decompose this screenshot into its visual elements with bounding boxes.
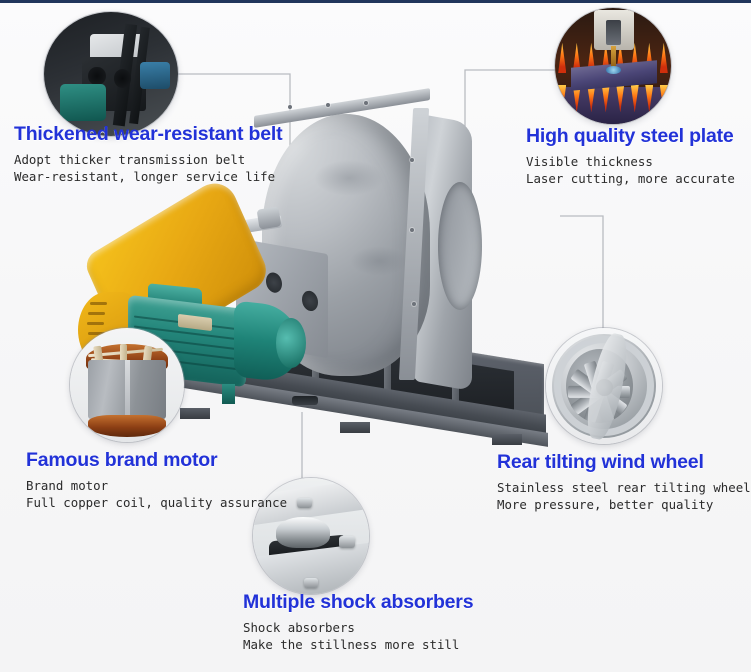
belt-photo-content — [44, 12, 178, 136]
stator-core-keyway — [125, 360, 131, 419]
belt-drive-motor — [60, 84, 106, 121]
flange-bolt — [410, 158, 414, 162]
shock-absorber-mount-on-frame — [292, 396, 318, 405]
flange-bolt — [326, 103, 330, 107]
mount-bolt — [304, 578, 318, 588]
stator-photo-content — [70, 328, 184, 442]
feature-line: Laser cutting, more accurate — [526, 171, 735, 187]
pedestal-access-hole — [302, 290, 318, 313]
flange-bolt — [364, 101, 368, 105]
base-frame-foot — [180, 408, 210, 419]
laser-head-window — [606, 20, 621, 46]
motor-stator-copper-winding-photo — [70, 328, 184, 442]
laser-photo-content — [555, 8, 671, 124]
feature-line: Wear-resistant, longer service life — [14, 169, 282, 185]
feature-title: Famous brand motor — [26, 450, 287, 471]
guard-vent-slot — [88, 312, 105, 315]
pedestal-access-hole — [266, 271, 282, 294]
feature-line: Full copper coil, quality assurance — [26, 495, 287, 511]
flange-bolt — [410, 228, 414, 232]
base-frame-foot — [492, 434, 522, 445]
housing-smudge — [350, 246, 408, 276]
motor-end-cone — [276, 318, 306, 368]
feature-title: High quality steel plate — [526, 126, 735, 147]
infographic-canvas: Thickened wear-resistant belt Adopt thic… — [0, 0, 751, 672]
feature-line: Shock absorbers — [243, 620, 473, 636]
feature-line: Make the stillness more still — [243, 637, 473, 653]
mount-bolt — [339, 536, 355, 548]
bearing-block — [257, 206, 282, 229]
feature-line: Adopt thicker transmission belt — [14, 152, 282, 168]
flange-bolt — [288, 105, 292, 109]
feature-line: Stainless steel rear tilting wheel — [497, 480, 751, 496]
feature-title: Rear tilting wind wheel — [497, 452, 751, 473]
feature-description: Brand motor Full copper coil, quality as… — [26, 478, 287, 511]
mount-bolt — [297, 498, 312, 508]
stator-winding-bottom — [88, 415, 166, 438]
chrome-spring-dome — [276, 517, 329, 547]
belt-frame-hole — [114, 69, 131, 88]
feature-famous-brand-motor: Famous brand motor Brand motor Full copp… — [26, 450, 287, 511]
flange-bolt — [412, 302, 416, 306]
top-border-rule — [0, 0, 751, 3]
impeller-photo-content — [546, 328, 662, 444]
feature-description: Adopt thicker transmission belt Wear-res… — [14, 152, 282, 185]
feature-rear-tilting-wind-wheel: Rear tilting wind wheel Stainless steel … — [497, 452, 751, 513]
feature-description: Shock absorbers Make the stillness more … — [243, 620, 473, 653]
feature-description: Visible thickness Laser cutting, more ac… — [526, 154, 735, 187]
guard-vent-slot — [90, 302, 107, 305]
feature-wear-resistant-belt: Thickened wear-resistant belt Adopt thic… — [14, 124, 282, 185]
feature-line: Visible thickness — [526, 154, 735, 170]
feature-high-quality-steel-plate: High quality steel plate Visible thickne… — [526, 126, 735, 187]
feature-line: More pressure, better quality — [497, 497, 751, 513]
belt-drive-pulley-photo — [44, 12, 178, 136]
motor-foot — [222, 384, 235, 404]
stainless-steel-impeller-photo — [546, 328, 662, 444]
belt-frame-hole — [88, 67, 105, 86]
feature-line: Brand motor — [26, 478, 287, 494]
housing-inlet-ring — [438, 182, 482, 310]
feature-multiple-shock-absorbers: Multiple shock absorbers Shock absorbers… — [243, 592, 473, 653]
feature-title: Multiple shock absorbers — [243, 592, 473, 613]
belt-drive-secondary-motor — [140, 62, 169, 89]
feature-description: Stainless steel rear tilting wheel More … — [497, 480, 751, 513]
base-frame-foot — [340, 422, 370, 433]
laser-cutting-steel-plate-photo — [555, 8, 671, 124]
housing-smudge — [314, 160, 384, 196]
guard-vent-slot — [87, 322, 104, 325]
feature-title: Thickened wear-resistant belt — [14, 124, 282, 145]
